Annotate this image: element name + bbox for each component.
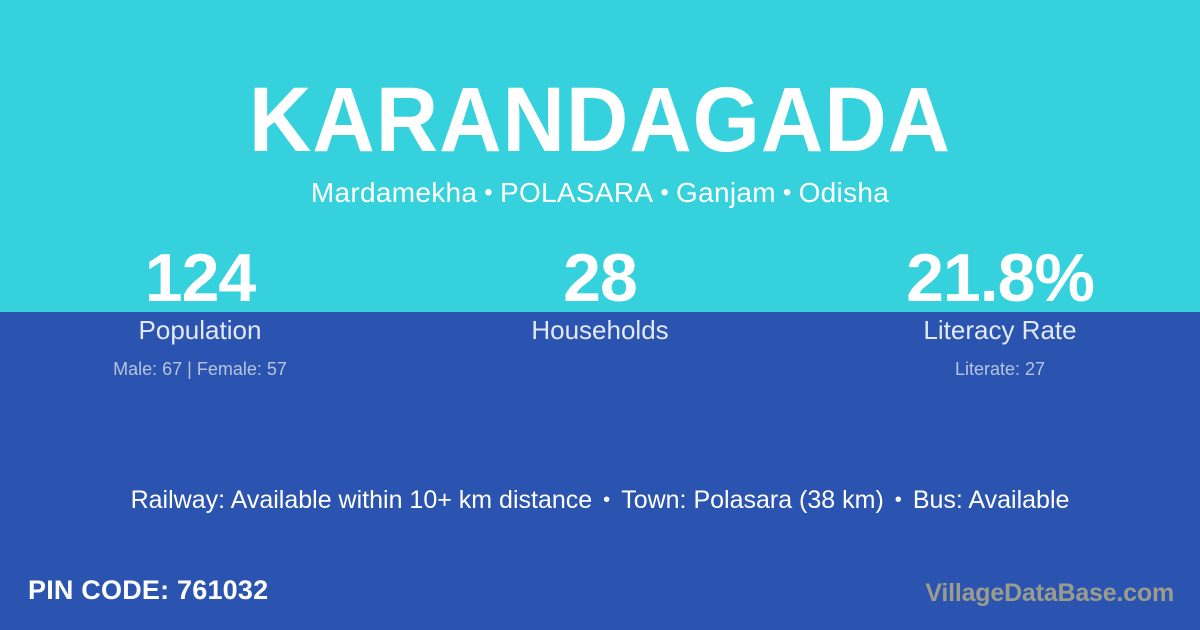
stat-literacy-rate: 21.8% Literacy Rate Literate: 27 xyxy=(800,243,1200,381)
stat-literacy-rate-value: 21.8% xyxy=(800,243,1200,313)
pin-code: PIN CODE: 761032 xyxy=(28,572,268,608)
village-info-card: KARANDAGADA Mardamekha•POLASARA•Ganjam•O… xyxy=(0,0,1200,630)
stat-population-value: 124 xyxy=(0,243,400,313)
info-separator-2: • xyxy=(884,489,913,511)
breadcrumb-separator-2: • xyxy=(653,179,676,206)
breadcrumb-district: Ganjam xyxy=(676,177,776,208)
stat-population-sub: Male: 67 | Female: 57 xyxy=(0,347,400,381)
card-footer: PIN CODE: 761032 VillageDataBase.com xyxy=(0,568,1200,630)
breadcrumb-state: Odisha xyxy=(799,177,890,208)
stat-population-label: Population xyxy=(0,313,400,347)
stat-households: 28 Households xyxy=(400,243,800,381)
breadcrumb-separator-3: • xyxy=(776,179,799,206)
info-bus: Bus: Available xyxy=(913,486,1070,514)
stat-literacy-rate-label: Literacy Rate xyxy=(800,313,1200,347)
stats-row: 124 Population Male: 67 | Female: 57 28 … xyxy=(0,243,1200,381)
breadcrumb-block: POLASARA xyxy=(500,177,653,208)
stat-households-value: 28 xyxy=(400,243,800,313)
info-separator-1: • xyxy=(592,489,621,511)
info-railway: Railway: Available within 10+ km distanc… xyxy=(131,486,593,514)
breadcrumb-separator-1: • xyxy=(477,179,500,206)
site-brand: VillageDataBase.com xyxy=(925,577,1174,609)
transport-info-line: Railway: Available within 10+ km distanc… xyxy=(0,485,1200,517)
info-town: Town: Polasara (38 km) xyxy=(621,486,884,514)
stat-households-label: Households xyxy=(400,313,800,347)
card-header: KARANDAGADA Mardamekha•POLASARA•Ganjam•O… xyxy=(0,0,1200,209)
breadcrumb-panchayat: Mardamekha xyxy=(311,177,477,208)
page-title: KARANDAGADA xyxy=(36,0,1164,163)
stat-literacy-rate-sub: Literate: 27 xyxy=(800,347,1200,381)
stat-population: 124 Population Male: 67 | Female: 57 xyxy=(0,243,400,381)
stat-households-sub xyxy=(400,347,800,381)
